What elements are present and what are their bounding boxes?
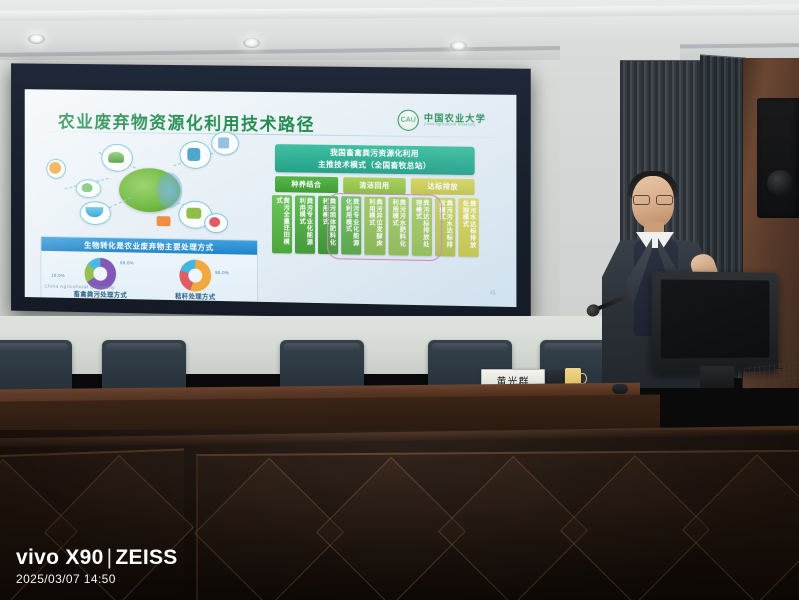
ceiling-downlight <box>450 41 467 51</box>
university-name-en: China Agricultural University <box>424 123 486 127</box>
cycle-flow-diagram <box>38 137 254 238</box>
farm-center-icon <box>119 168 180 213</box>
presentation-slide: 农业废弃物资源化利用技术路径 CAU 中国农业大学 China Agricult… <box>25 89 517 307</box>
category-chip: 达标排放 <box>411 178 475 195</box>
chair <box>102 340 186 390</box>
energy-icon <box>218 137 229 148</box>
mode-box: 粪污水达标排放处理模式 <box>458 198 478 257</box>
university-logo: CAU 中国农业大学 China Agricultural University <box>398 110 486 132</box>
wall-speaker-icon <box>757 98 799 218</box>
green-panel-header: 我国畜禽粪污资源化利用 主推技术模式（全国畜牧总站） <box>275 144 475 175</box>
chair <box>280 340 364 390</box>
planting-icon <box>108 152 124 163</box>
donut-label-straw: 秸秆处理方式 <box>154 291 237 302</box>
ceiling-downlight <box>28 34 45 44</box>
watermark-lens-text: ZEISS <box>115 546 177 569</box>
podium-panel-right <box>196 450 799 600</box>
monitor <box>652 271 778 373</box>
green-header-line2: 主推技术模式（全国畜牧总站） <box>318 159 431 172</box>
processing-icon <box>157 216 171 226</box>
mode-box: 粪污全量还田模式 <box>272 195 292 253</box>
fertilizer-icon <box>49 162 61 174</box>
chair <box>0 340 72 390</box>
donut-label-manure: 畜禽粪污处理方式 <box>59 289 142 300</box>
biogas-icon <box>187 148 200 161</box>
monitor-screen <box>661 279 770 358</box>
highlight-annotation-oval <box>327 193 442 261</box>
glasses-icon <box>633 195 673 203</box>
watermark-brand: vivo X90|ZEISS <box>16 546 178 569</box>
university-crest-icon: CAU <box>398 110 419 131</box>
ceiling-downlight <box>243 38 260 48</box>
straw-icon <box>186 208 201 219</box>
donut-pct-label: 66.0% <box>120 260 134 265</box>
monitor-stand <box>700 366 734 388</box>
ceiling-soffit <box>0 5 799 21</box>
recycle-icon <box>209 217 220 227</box>
category-chip: 种养结合 <box>275 176 338 193</box>
projection-screen: 农业废弃物资源化利用技术路径 CAU 中国农业大学 China Agricult… <box>11 63 531 321</box>
category-row: 种养结合 清洁回用 达标排放 <box>275 176 475 195</box>
blue-panel-header: 生物转化是农业废弃物主要处理方式 <box>41 237 257 255</box>
donut-chart-straw <box>179 259 211 292</box>
watermark-datetime: 2025/03/07 14:50 <box>16 572 178 586</box>
watermark-separator: | <box>107 546 113 569</box>
blue-panel: 生物转化是农业废弃物主要处理方式 19.0% 66.0% 畜禽粪污处理方式 55… <box>40 236 258 304</box>
category-chip: 清洁回用 <box>343 177 406 194</box>
donut-pct-label: 55.0% <box>215 270 229 275</box>
camera-watermark: vivo X90|ZEISS 2025/03/07 14:50 <box>16 546 178 586</box>
photo-scene: 农业废弃物资源化利用技术路径 CAU 中国农业大学 China Agricult… <box>0 0 799 600</box>
slide-page-number: 45 <box>490 290 496 296</box>
donut-pct-label: 19.0% <box>51 273 65 278</box>
watermark-brand-text: vivo X90 <box>16 546 104 569</box>
crops-icon <box>82 183 93 192</box>
podium-diamond <box>682 454 799 600</box>
mouse <box>612 384 628 394</box>
mode-box: 粪污专业化能源利用模式 <box>295 195 315 253</box>
